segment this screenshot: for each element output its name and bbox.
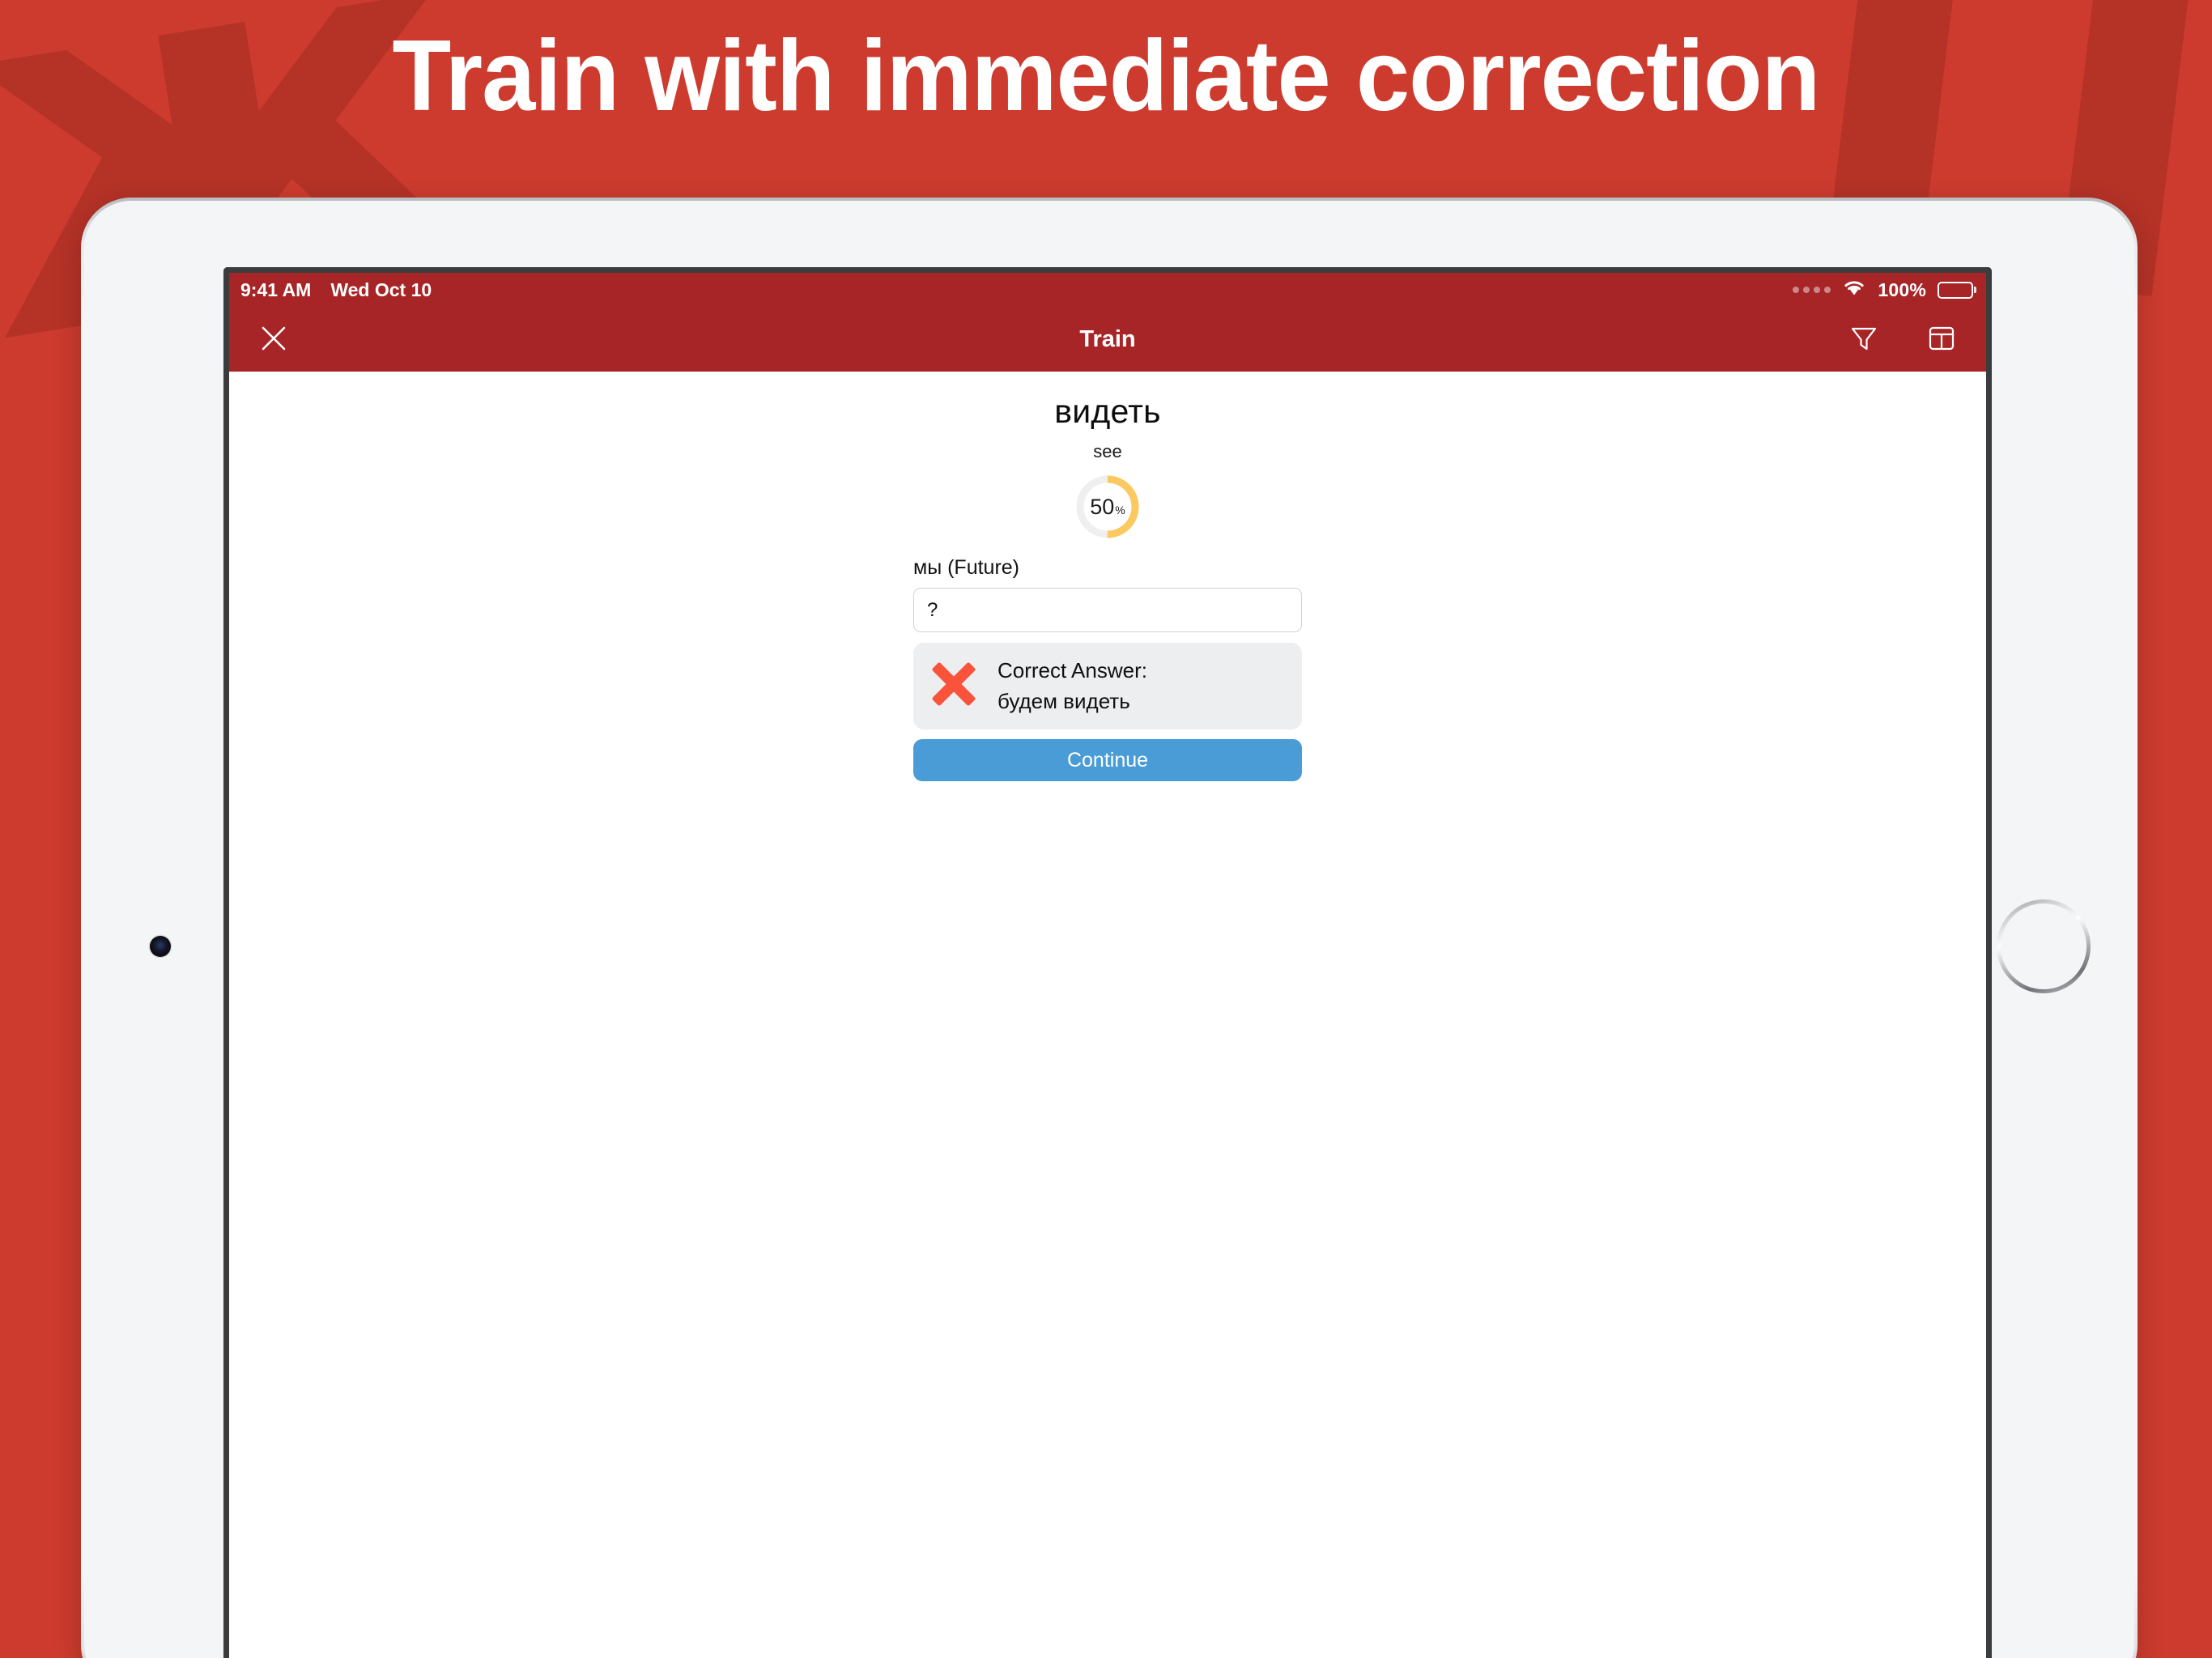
battery-percent-label: 100% <box>1878 279 1926 301</box>
incorrect-x-icon <box>928 658 980 714</box>
feedback-text: Correct Answer: будем видеть <box>998 656 1147 716</box>
status-bar: 9:41 AM Wed Oct 10 100% <box>229 273 1986 307</box>
filter-button[interactable] <box>1840 316 1887 363</box>
feedback-box: Correct Answer: будем видеть <box>913 643 1302 729</box>
word-term: видеть <box>229 393 1986 431</box>
status-bar-right: 100% <box>1793 278 1973 301</box>
progress-ring-label: 50 % <box>1074 474 1141 540</box>
status-bar-left: 9:41 AM Wed Oct 10 <box>240 279 432 301</box>
navigation-bar: Train <box>229 307 1986 372</box>
prompt-label: мы (Future) <box>913 556 1302 580</box>
continue-button[interactable]: Continue <box>913 739 1302 781</box>
page-title: Train <box>229 326 1986 353</box>
answer-input[interactable] <box>913 588 1302 632</box>
mastery-progress-ring: 50 % <box>1074 474 1141 540</box>
close-icon <box>260 325 287 355</box>
front-camera-icon <box>150 936 171 957</box>
ipad-device-frame: 9:41 AM Wed Oct 10 100% <box>81 198 2138 1658</box>
word-card: видеть see 50 % <box>229 393 1986 540</box>
status-time: 9:41 AM <box>240 279 311 301</box>
cellular-signal-icon <box>1793 287 1831 293</box>
feedback-title: Correct Answer: <box>998 656 1147 687</box>
promo-headline: Train with immediate correction <box>45 21 2168 131</box>
progress-value: 50 <box>1090 495 1114 520</box>
home-button[interactable] <box>1997 899 2091 993</box>
filter-icon <box>1849 324 1878 355</box>
train-content: видеть see 50 % мы (Future) <box>229 372 1986 781</box>
progress-unit: % <box>1115 504 1125 517</box>
answer-form: мы (Future) Correct Answer: будем видеть <box>913 556 1302 781</box>
close-button[interactable] <box>250 316 297 363</box>
navigation-bar-actions <box>1840 316 1965 363</box>
feedback-correct-answer: будем видеть <box>998 687 1147 717</box>
word-translation: see <box>229 441 1986 462</box>
wifi-icon <box>1842 278 1866 301</box>
ipad-bezel: 9:41 AM Wed Oct 10 100% <box>84 201 2134 1658</box>
layout-icon <box>1927 324 1956 355</box>
layout-button[interactable] <box>1918 316 1965 363</box>
ipad-screen: 9:41 AM Wed Oct 10 100% <box>223 267 1992 1658</box>
battery-icon <box>1938 282 1973 299</box>
status-date: Wed Oct 10 <box>330 279 432 301</box>
